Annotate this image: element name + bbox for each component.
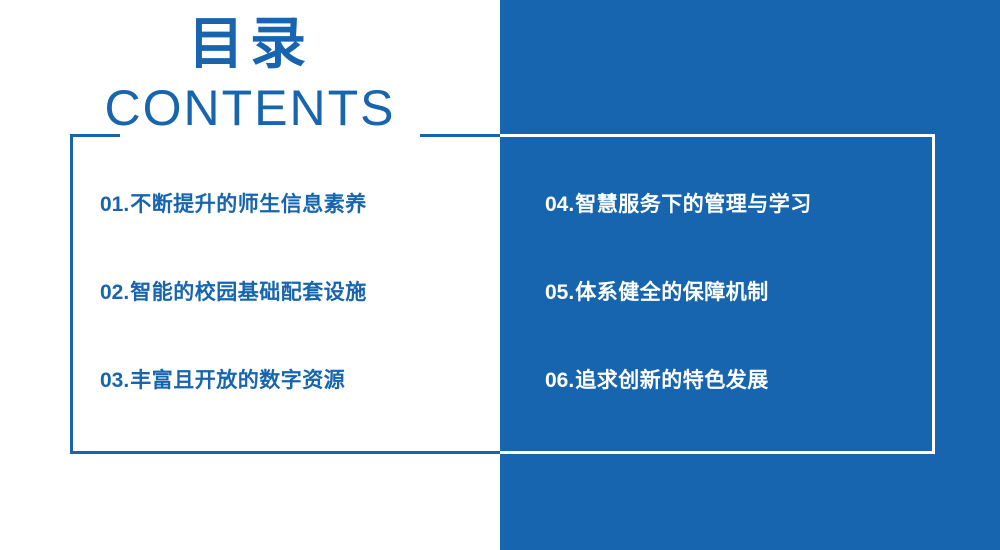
title-english: CONTENTS: [0, 83, 500, 133]
toc-item-04[interactable]: 04. 智慧服务下的管理与学习: [545, 160, 965, 248]
toc-item-05[interactable]: 05. 体系健全的保障机制: [545, 248, 965, 336]
toc-item-label: 追求创新的特色发展: [575, 370, 769, 391]
toc-item-label: 丰富且开放的数字资源: [130, 370, 345, 391]
toc-item-01[interactable]: 01. 不断提升的师生信息素养: [100, 160, 500, 248]
title-block: 目录 CONTENTS: [0, 14, 500, 133]
toc-item-number: 05.: [545, 282, 574, 303]
toc-item-06[interactable]: 06. 追求创新的特色发展: [545, 336, 965, 424]
toc-item-02[interactable]: 02. 智能的校园基础配套设施: [100, 248, 500, 336]
toc-item-label: 智慧服务下的管理与学习: [575, 194, 812, 215]
toc-item-number: 02.: [100, 282, 129, 303]
toc-item-number: 04.: [545, 194, 574, 215]
toc-slide: 目录 CONTENTS 01. 不断提升的师生信息素养 02. 智能的校园基础配…: [0, 0, 1000, 550]
toc-item-label: 体系健全的保障机制: [575, 282, 769, 303]
toc-item-number: 01.: [100, 194, 129, 215]
toc-item-number: 03.: [100, 370, 129, 391]
title-chinese: 目录: [0, 14, 500, 77]
toc-item-label: 智能的校园基础配套设施: [130, 282, 367, 303]
toc-left-column: 01. 不断提升的师生信息素养 02. 智能的校园基础配套设施 03. 丰富且开…: [100, 160, 500, 424]
toc-item-label: 不断提升的师生信息素养: [130, 194, 367, 215]
toc-item-03[interactable]: 03. 丰富且开放的数字资源: [100, 336, 500, 424]
toc-right-column: 04. 智慧服务下的管理与学习 05. 体系健全的保障机制 06. 追求创新的特…: [545, 160, 965, 424]
toc-item-number: 06.: [545, 370, 574, 391]
